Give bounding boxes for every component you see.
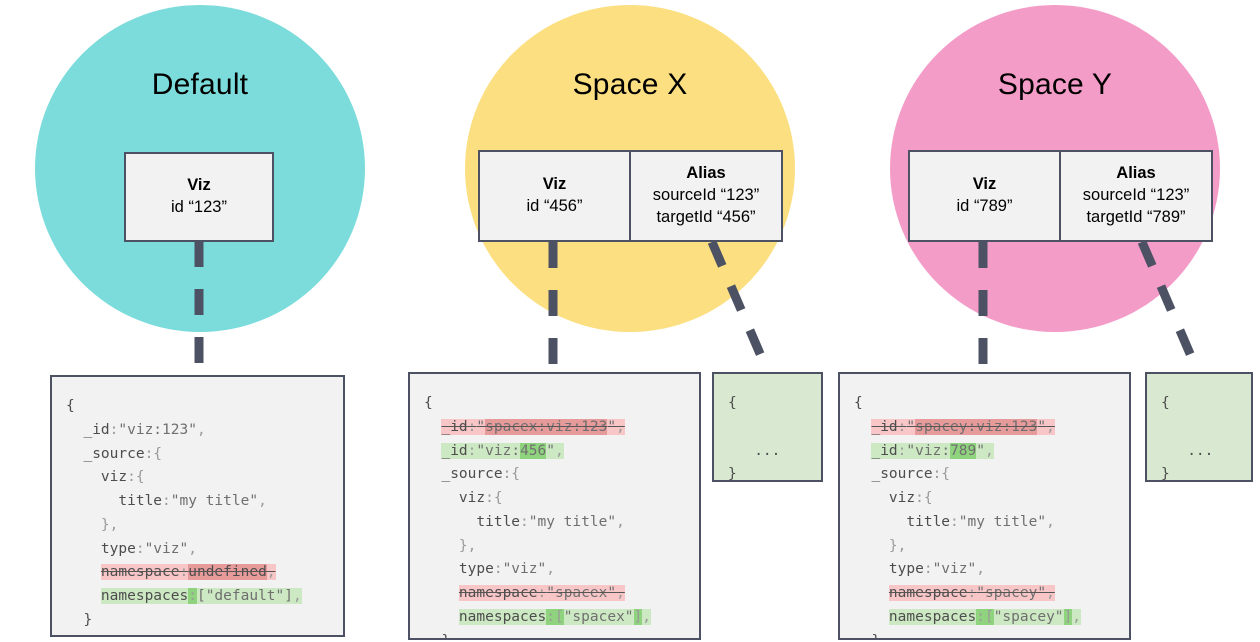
code-token: : [162,493,171,509]
entity-detail: id “456” [527,196,583,218]
code-token: }, [424,538,476,554]
code-token-red: , [616,585,625,601]
code-token-green: " [976,443,985,459]
code-line: _id:"viz:789", [854,440,1115,464]
code-token-red-strong: 123 [1011,419,1037,435]
connector-spacex-alias [712,242,770,377]
diagram-canvas: Default Space X Space Y Viz id “123” Viz [0,0,1260,642]
code-line: }, [424,535,685,559]
code-token: :{ [145,446,162,462]
entity-detail-source: sourceId “123” [653,185,759,207]
code-token-green-strong: : [188,588,197,604]
code-token-green: , [642,609,651,625]
entity-alias-spacex[interactable]: Alias sourceId “123” targetId “456” [629,152,781,240]
code-token-red: namespace [459,585,538,601]
code-token: "viz:123" [118,422,197,438]
code-line: namespaces:["default"], [66,585,329,609]
code-token: : [136,541,145,557]
code-line: namespaces:["spacex"], [424,606,685,630]
code-token-red: , [267,564,276,580]
code-line: }, [854,535,1115,559]
entity-group-spacex: Viz id “456” Alias sourceId “123” target… [478,150,783,242]
code-line: _id:"viz:456", [424,440,685,464]
code-token [424,585,459,601]
code-token-red: " [607,419,616,435]
code-token-red: "spacex" [546,585,616,601]
entity-detail: id “123” [171,197,227,219]
code-token [424,609,459,625]
code-token-green-strong: ] [1064,609,1073,625]
code-token: :{ [485,490,502,506]
code-token: { [728,395,737,411]
code-token: : [494,561,503,577]
code-token: "my title" [959,514,1046,530]
code-line: { [1161,392,1237,416]
code-token: "viz" [933,561,977,577]
code-token-green: namespaces [101,588,188,604]
code-line: } [66,633,329,637]
code-token-red: " [906,419,915,435]
code-line: type:"viz", [66,538,329,562]
code-token: viz [854,490,915,506]
document-spacex: { _id:"spacex:viz:123", _id:"viz:456", _… [408,372,701,640]
code-token: { [66,398,75,414]
code-token-red: " [1037,419,1046,435]
code-line: _id:"spacey:viz:123", [854,416,1115,440]
code-token-red-strong: undefined [188,564,267,580]
code-token-red: _id [441,419,467,435]
code-token: _source [854,466,933,482]
code-token: : [520,514,529,530]
code-token: }, [854,538,906,554]
code-token-green: _id [871,443,897,459]
code-token-green: "viz: [476,443,520,459]
code-line: viz:{ [424,487,685,511]
code-token: viz [424,490,485,506]
code-token: type [66,541,136,557]
code-line: ... [1161,440,1237,464]
code-token: } [728,466,737,482]
entity-detail: id “789” [957,196,1013,218]
code-line [728,416,807,440]
code-token-red-strong: spacex:viz: [485,419,581,435]
code-token-red-strong: 123 [581,419,607,435]
code-line: namespace:undefined, [66,561,329,585]
code-token: }, [66,517,118,533]
document-ellipsis-spacey: { ...} [1145,372,1253,482]
code-line: } [728,463,807,482]
code-token-red: "spacey" [976,585,1046,601]
code-token-red: , [1046,585,1055,601]
code-token: { [424,395,433,411]
entity-title: Viz [543,174,567,196]
code-token: type [424,561,494,577]
code-token-red: : [180,564,189,580]
code-line: { [728,392,807,416]
code-line: type:"viz", [424,558,685,582]
code-line: title:"my title", [854,511,1115,535]
code-token-green-strong: 456 [520,443,546,459]
code-line: }, [66,514,329,538]
code-token-green: ["default"] [197,588,293,604]
code-line: _source:{ [424,463,685,487]
code-token-green-strong: : [546,609,555,625]
code-line: title:"my title", [424,511,685,535]
code-line: _source:{ [854,463,1115,487]
entity-alias-spacey[interactable]: Alias sourceId “123” targetId “789” [1059,152,1211,240]
code-token-red: : [968,585,977,601]
code-token-green-strong: ] [634,609,643,625]
code-token: _source [424,466,503,482]
code-token-green: , [555,443,564,459]
code-line: namespace:"spacey", [854,582,1115,606]
code-line: _source:{ [66,443,329,467]
code-line: } [424,630,685,640]
code-token: } [854,633,880,640]
code-line: } [66,609,329,633]
code-token: ... [1161,443,1213,459]
code-token: , [976,561,985,577]
code-token-red: _id [871,419,897,435]
code-token: title [424,514,520,530]
code-line: { [424,392,685,416]
code-token-green: " [546,443,555,459]
document-spacey: { _id:"spacey:viz:123", _id:"viz:789", _… [838,372,1131,640]
connector-spacey-alias [1142,242,1200,377]
code-line: viz:{ [854,487,1115,511]
document-default: { _id:"viz:123", _source:{ viz:{ title:"… [50,375,345,637]
code-token: "viz" [503,561,547,577]
code-token-green: , [293,588,302,604]
code-token-green: , [985,443,994,459]
code-line: _id:"viz:123", [66,419,329,443]
code-token-green-strong: [ [555,609,564,625]
code-token-red: " [476,419,485,435]
code-token: : [950,514,959,530]
code-token: } [1161,466,1170,482]
code-token: :{ [915,490,932,506]
code-token: , [1046,514,1055,530]
entity-title: Viz [973,174,997,196]
code-token: "my title" [529,514,616,530]
code-token-green-strong: 789 [950,443,976,459]
code-token: ... [728,443,780,459]
entity-title: Alias [1116,163,1155,185]
entity-detail-target: targetId “456” [656,207,755,229]
code-token-green: "spacex" [564,609,634,625]
code-line: namespace:"spacex", [424,582,685,606]
code-token [66,564,101,580]
code-token: , [197,422,206,438]
code-token [854,419,871,435]
code-token [854,443,871,459]
code-token-red-strong: spacey:viz: [915,419,1011,435]
entity-detail-target: targetId “789” [1086,207,1185,229]
code-token [66,588,101,604]
code-token-green: namespaces [889,609,976,625]
code-token: "viz" [145,541,189,557]
code-token: , [258,493,267,509]
entity-viz-spacey[interactable]: Viz id “789” [910,152,1059,240]
code-line: { [854,392,1115,416]
code-token [424,443,441,459]
code-line: } [1161,463,1237,482]
code-token: :{ [127,469,144,485]
code-token: , [616,514,625,530]
code-token: _id [66,422,110,438]
code-line: _id:"spacex:viz:123", [424,416,685,440]
entity-title: Viz [187,175,211,197]
code-token: title [854,514,950,530]
code-token: } [424,633,450,640]
code-token [854,609,889,625]
entity-group-spacey: Viz id “789” Alias sourceId “123” target… [908,150,1213,242]
code-line: ... [728,440,807,464]
document-ellipsis-spacex: { ...} [712,372,823,482]
entity-title: Alias [686,163,725,185]
code-token: , [546,561,555,577]
code-token: type [854,561,924,577]
code-token: :{ [933,466,950,482]
code-line: namespaces:["spacey"], [854,606,1115,630]
code-token: _source [66,446,145,462]
code-token-green: _id [441,443,467,459]
code-token [424,419,441,435]
code-line: type:"viz", [854,558,1115,582]
code-line: viz:{ [66,466,329,490]
entity-detail-source: sourceId “123” [1083,185,1189,207]
code-token-red: : [538,585,547,601]
code-token: } [66,636,75,637]
code-token: { [854,395,863,411]
code-token-red: namespace [889,585,968,601]
code-token-green-strong: [ [985,609,994,625]
code-token: } [66,612,92,628]
code-token-green: , [1072,609,1081,625]
code-token: , [188,541,197,557]
code-token: viz [66,469,127,485]
entity-viz-default[interactable]: Viz id “123” [126,154,272,240]
code-token-red: , [616,419,625,435]
code-line [1161,416,1237,440]
code-token: { [1161,395,1170,411]
code-token-green: "viz: [906,443,950,459]
code-line: title:"my title", [66,490,329,514]
code-token: :{ [503,466,520,482]
code-line: } [854,630,1115,640]
code-token: title [66,493,162,509]
entity-viz-spacex[interactable]: Viz id “456” [480,152,629,240]
code-line: { [66,395,329,419]
code-token: : [924,561,933,577]
code-token-red: namespace [101,564,180,580]
entity-group-default: Viz id “123” [124,152,274,242]
code-token: "my title" [171,493,258,509]
code-token-green-strong: : [976,609,985,625]
code-token-green: "spacey" [994,609,1064,625]
code-token [854,585,889,601]
code-token-red: , [1046,419,1055,435]
code-token-green: namespaces [459,609,546,625]
